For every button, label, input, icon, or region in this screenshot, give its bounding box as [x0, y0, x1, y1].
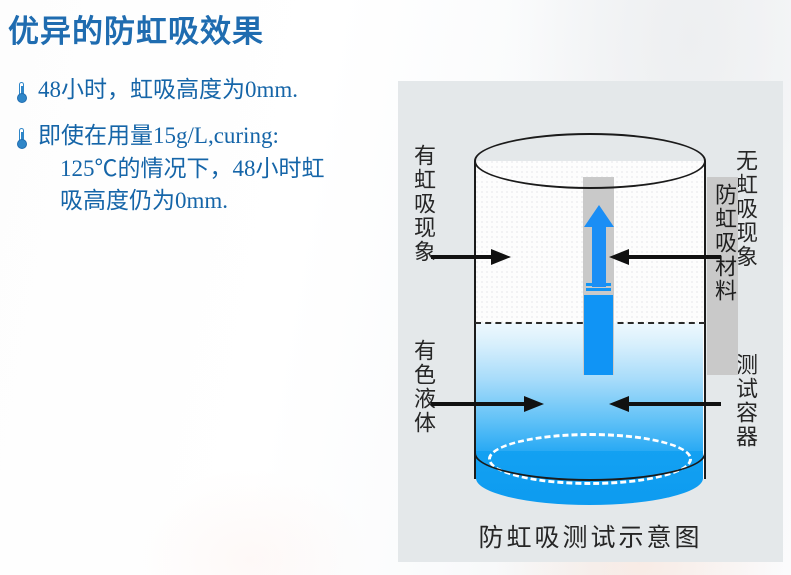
bullet-text-2: 即使在用量15g/L,curing: 125℃的情况下，48小时虹 吸高度仍为0…	[32, 120, 392, 218]
list-item: 48小时，虹吸高度为0mm.	[10, 74, 392, 110]
arrow-to-siphon-column	[431, 249, 511, 270]
bullet-text-2-line2: 125℃的情况下，48小时虹	[38, 153, 392, 186]
bullet-text-2-line3: 吸高度仍为0mm.	[38, 185, 392, 218]
thermometer-icon	[10, 126, 32, 156]
label-colored-liquid: 有色液体	[410, 339, 436, 435]
label-siphon-phenomenon: 有虹吸现象	[410, 144, 436, 264]
thermometer-icon	[10, 80, 32, 110]
siphon-liquid-column	[584, 295, 613, 375]
arrow-to-test-container	[609, 396, 721, 417]
test-container-cylinder: 防虹吸材料	[474, 133, 706, 508]
bullet-text-1: 48小时，虹吸高度为0mm.	[32, 74, 392, 107]
siphon-test-diagram: 有虹吸现象 有色液体 无虹吸现象 测试容器 防虹吸材料	[398, 81, 783, 562]
figure-caption: 防虹吸测试示意图	[398, 518, 783, 554]
cylinder-top-rim	[474, 133, 706, 189]
arrow-to-colored-liquid	[431, 396, 544, 417]
page-title: 优异的防虹吸效果	[8, 6, 264, 51]
cylinder-bottom-cap	[474, 425, 706, 481]
list-item: 即使在用量15g/L,curing: 125℃的情况下，48小时虹 吸高度仍为0…	[10, 120, 392, 218]
siphon-up-arrow-icon	[584, 205, 614, 287]
label-antisiphon-material: 防虹吸材料	[707, 183, 738, 303]
slide-canvas: 优异的防虹吸效果 48小时，虹吸高度为0mm. 即使在用量15g/L,curin…	[0, 0, 791, 575]
bullet-list: 48小时，虹吸高度为0mm. 即使在用量15g/L,curing: 125℃的情…	[10, 74, 392, 228]
bullet-text-2-line1: 即使在用量15g/L,curing:	[38, 123, 279, 148]
arrow-to-antisiphon-material	[609, 249, 721, 270]
